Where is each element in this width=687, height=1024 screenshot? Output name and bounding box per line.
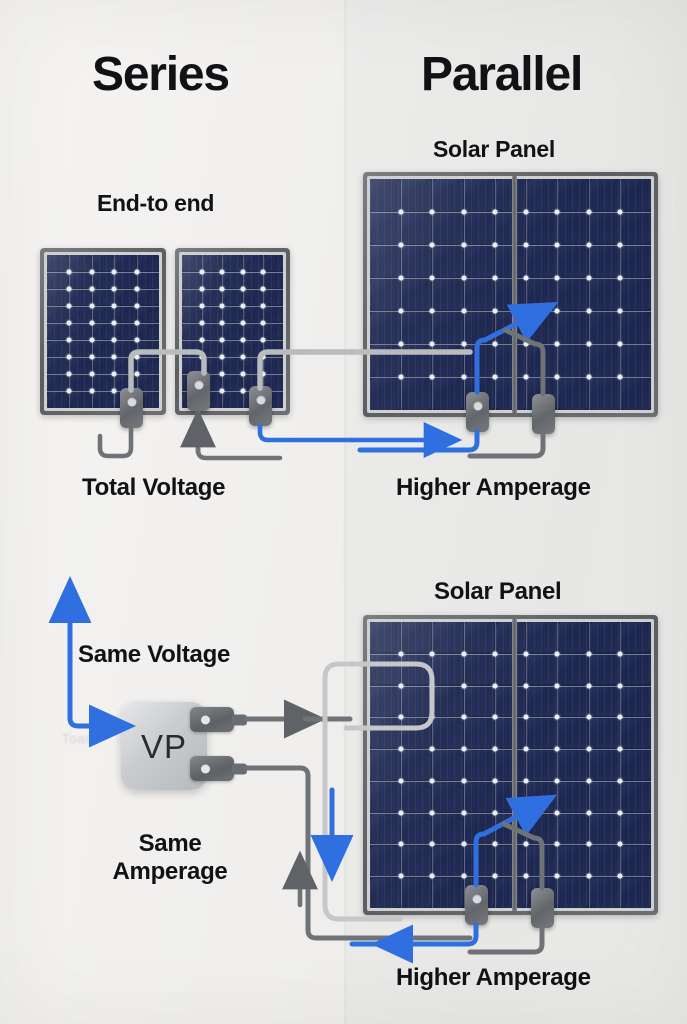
cell-node bbox=[67, 320, 72, 325]
solar-cell bbox=[203, 307, 222, 323]
cell-node bbox=[461, 309, 466, 314]
solar-cell bbox=[527, 654, 557, 684]
solar-cell bbox=[370, 782, 400, 812]
panel-label-top-right: Solar Panel bbox=[433, 136, 555, 163]
cell-node bbox=[399, 842, 404, 847]
solar-cell bbox=[182, 341, 201, 357]
cell-node bbox=[461, 874, 466, 879]
solar-cell bbox=[370, 378, 400, 410]
solar-cell bbox=[590, 750, 620, 780]
solar-cell bbox=[590, 718, 620, 748]
cell-node bbox=[220, 320, 225, 325]
vp-terminal-top bbox=[190, 707, 234, 732]
cell-node bbox=[260, 304, 265, 309]
cell-node bbox=[524, 375, 529, 380]
cell-node bbox=[112, 338, 117, 343]
solar-cell bbox=[527, 179, 557, 211]
solar-cell bbox=[401, 212, 431, 244]
solar-cell bbox=[621, 279, 651, 311]
solar-cell bbox=[223, 392, 242, 408]
cell-node bbox=[399, 715, 404, 720]
cell-node bbox=[67, 304, 72, 309]
solar-cell bbox=[182, 289, 201, 305]
solar-cell bbox=[223, 289, 242, 305]
cell-node bbox=[492, 874, 497, 879]
solar-cell bbox=[401, 782, 431, 812]
solar-cell bbox=[464, 345, 494, 377]
cell-node bbox=[524, 309, 529, 314]
solar-cell bbox=[401, 718, 431, 748]
busbar-horizontal bbox=[182, 340, 283, 341]
cell-node bbox=[134, 286, 139, 291]
title-series: Series bbox=[92, 47, 229, 102]
busbar-horizontal bbox=[370, 876, 651, 877]
solar-cell bbox=[527, 622, 557, 652]
busbar-vertical bbox=[589, 622, 590, 908]
cell-node bbox=[220, 355, 225, 360]
busbar-horizontal bbox=[47, 323, 159, 324]
cell-node bbox=[430, 375, 435, 380]
solar-cell bbox=[433, 179, 463, 211]
solar-cell bbox=[621, 686, 651, 716]
cell-node bbox=[399, 747, 404, 752]
solar-cell bbox=[464, 212, 494, 244]
solar-cell bbox=[590, 245, 620, 277]
cell-node bbox=[524, 842, 529, 847]
cell-node bbox=[399, 309, 404, 314]
solar-cell bbox=[464, 718, 494, 748]
solar-cell bbox=[401, 814, 431, 844]
solar-cell bbox=[496, 279, 526, 311]
cell-node bbox=[555, 276, 560, 281]
cell-node bbox=[399, 210, 404, 215]
busbar-horizontal bbox=[47, 289, 159, 290]
solar-cell bbox=[401, 750, 431, 780]
solar-cell bbox=[590, 878, 620, 908]
cell-node bbox=[492, 810, 497, 815]
cell-node bbox=[89, 372, 94, 377]
solar-cell bbox=[590, 686, 620, 716]
solar-cell bbox=[464, 782, 494, 812]
solar-cell bbox=[527, 212, 557, 244]
solar-cell bbox=[558, 846, 588, 876]
solar-cell bbox=[47, 289, 68, 305]
cell-node bbox=[492, 651, 497, 656]
solar-cell bbox=[433, 378, 463, 410]
cell-node bbox=[524, 210, 529, 215]
cell-node bbox=[586, 778, 591, 783]
solar-cell bbox=[401, 846, 431, 876]
solar-cell bbox=[527, 279, 557, 311]
solar-cell bbox=[244, 324, 263, 340]
solar-cell bbox=[244, 358, 263, 374]
solar-cell bbox=[47, 307, 68, 323]
solar-cell bbox=[496, 378, 526, 410]
cell-node bbox=[430, 778, 435, 783]
junction-box-p2 bbox=[532, 394, 555, 434]
solar-cell bbox=[370, 312, 400, 344]
solar-cell bbox=[558, 312, 588, 344]
busbar-horizontal bbox=[182, 323, 283, 324]
cell-node bbox=[586, 309, 591, 314]
solar-cell bbox=[92, 255, 113, 271]
busbar-horizontal bbox=[370, 278, 651, 279]
busbar-vertical bbox=[69, 255, 70, 408]
solar-cell bbox=[558, 179, 588, 211]
cell-node bbox=[430, 715, 435, 720]
cell-node bbox=[617, 683, 622, 688]
cell-node bbox=[461, 375, 466, 380]
busbar-horizontal bbox=[370, 686, 651, 687]
cell-node bbox=[586, 342, 591, 347]
solar-cell bbox=[264, 324, 283, 340]
solar-cell bbox=[433, 750, 463, 780]
solar-cell bbox=[590, 179, 620, 211]
solar-cell bbox=[203, 255, 222, 271]
busbar-vertical bbox=[526, 622, 527, 908]
solar-cell bbox=[621, 245, 651, 277]
solar-cell bbox=[464, 654, 494, 684]
cell-node bbox=[586, 747, 591, 752]
solar-cell bbox=[370, 279, 400, 311]
cell-node bbox=[524, 651, 529, 656]
solar-cell bbox=[370, 718, 400, 748]
cell-node bbox=[524, 342, 529, 347]
solar-cell bbox=[464, 846, 494, 876]
solar-cell bbox=[264, 341, 283, 357]
cell-node bbox=[220, 372, 225, 377]
solar-cell bbox=[182, 307, 201, 323]
cell-node bbox=[617, 715, 622, 720]
junction-box-s1 bbox=[120, 388, 143, 428]
cell-node bbox=[461, 842, 466, 847]
solar-cell bbox=[621, 878, 651, 908]
cell-node bbox=[586, 683, 591, 688]
cell-node bbox=[67, 355, 72, 360]
cell-node bbox=[617, 276, 622, 281]
cell-node bbox=[200, 355, 205, 360]
solar-cell bbox=[115, 324, 136, 340]
solar-cell bbox=[401, 654, 431, 684]
solar-cell bbox=[115, 272, 136, 288]
solar-cell bbox=[370, 750, 400, 780]
cell-node bbox=[492, 715, 497, 720]
solar-cell bbox=[401, 622, 431, 652]
cell-node bbox=[461, 651, 466, 656]
solar-cell bbox=[47, 272, 68, 288]
solar-cell bbox=[621, 345, 651, 377]
cell-node bbox=[134, 320, 139, 325]
solar-cell bbox=[433, 686, 463, 716]
cell-node bbox=[524, 243, 529, 248]
cell-node bbox=[617, 651, 622, 656]
solar-cell bbox=[433, 345, 463, 377]
solar-cell bbox=[182, 272, 201, 288]
cell-node bbox=[399, 375, 404, 380]
cell-node bbox=[492, 210, 497, 215]
solar-cell bbox=[621, 782, 651, 812]
cell-node bbox=[461, 210, 466, 215]
cell-node bbox=[461, 747, 466, 752]
solar-cell bbox=[401, 245, 431, 277]
cell-node bbox=[586, 210, 591, 215]
solar-cell bbox=[496, 782, 526, 812]
cell-node bbox=[430, 842, 435, 847]
solar-cell bbox=[496, 654, 526, 684]
solar-cell bbox=[464, 245, 494, 277]
cell-node bbox=[89, 355, 94, 360]
cell-node bbox=[430, 810, 435, 815]
junction-box-s3 bbox=[249, 386, 272, 426]
solar-cell bbox=[433, 212, 463, 244]
cell-node bbox=[492, 683, 497, 688]
solar-cell bbox=[558, 279, 588, 311]
solar-cell bbox=[244, 289, 263, 305]
solar-cell bbox=[464, 622, 494, 652]
solar-cell bbox=[203, 289, 222, 305]
solar-cell bbox=[590, 846, 620, 876]
solar-cell bbox=[244, 255, 263, 271]
cell-node bbox=[492, 842, 497, 847]
vp-terminal-bottom bbox=[190, 756, 234, 781]
cell-node bbox=[555, 842, 560, 847]
solar-cell bbox=[433, 846, 463, 876]
solar-cell bbox=[264, 255, 283, 271]
solar-cell bbox=[47, 375, 68, 391]
cell-node bbox=[555, 342, 560, 347]
result-higher-amperage-top: Higher Amperage bbox=[396, 474, 591, 502]
solar-cell bbox=[590, 782, 620, 812]
parallel-panel-bottom-divider bbox=[512, 619, 517, 911]
cell-node bbox=[220, 388, 225, 393]
cell-node bbox=[524, 683, 529, 688]
solar-cell bbox=[47, 324, 68, 340]
cell-node bbox=[399, 810, 404, 815]
cell-node bbox=[555, 874, 560, 879]
solar-cell bbox=[590, 654, 620, 684]
cell-node bbox=[617, 243, 622, 248]
solar-cell bbox=[527, 312, 557, 344]
cell-node bbox=[555, 651, 560, 656]
busbar-horizontal bbox=[182, 289, 283, 290]
busbar-horizontal bbox=[370, 813, 651, 814]
solar-cell bbox=[47, 358, 68, 374]
solar-cell bbox=[433, 279, 463, 311]
cell-node bbox=[240, 355, 245, 360]
solar-cell bbox=[70, 358, 91, 374]
solar-cell bbox=[138, 324, 159, 340]
solar-cell bbox=[47, 341, 68, 357]
cell-node bbox=[260, 338, 265, 343]
cell-node bbox=[200, 304, 205, 309]
cell-node bbox=[555, 683, 560, 688]
busbar-vertical bbox=[114, 255, 115, 408]
solar-cell bbox=[401, 378, 431, 410]
cell-node bbox=[555, 747, 560, 752]
cell-node bbox=[492, 375, 497, 380]
solar-cell bbox=[203, 324, 222, 340]
cell-node bbox=[240, 286, 245, 291]
cell-node bbox=[461, 810, 466, 815]
solar-cell bbox=[370, 846, 400, 876]
result-total-voltage: Total Voltage bbox=[82, 474, 225, 502]
solar-cell bbox=[496, 718, 526, 748]
cell-node bbox=[555, 210, 560, 215]
solar-cell bbox=[138, 358, 159, 374]
solar-cell bbox=[92, 341, 113, 357]
cell-node bbox=[492, 747, 497, 752]
solar-cell bbox=[590, 345, 620, 377]
junction-box-p4 bbox=[531, 888, 554, 928]
busbar-vertical bbox=[92, 255, 93, 408]
solar-cell bbox=[370, 245, 400, 277]
cell-node bbox=[524, 276, 529, 281]
solar-cell bbox=[621, 750, 651, 780]
panel-label-bottom-right: Solar Panel bbox=[434, 578, 561, 606]
solar-cell bbox=[138, 289, 159, 305]
cell-node bbox=[112, 320, 117, 325]
caption-end-to-end: End-to end bbox=[97, 190, 214, 217]
cell-node bbox=[617, 810, 622, 815]
solar-cell bbox=[527, 345, 557, 377]
solar-cell bbox=[92, 324, 113, 340]
cell-node bbox=[430, 276, 435, 281]
solar-cell bbox=[496, 179, 526, 211]
solar-cell bbox=[223, 272, 242, 288]
cell-node bbox=[240, 304, 245, 309]
solar-cell bbox=[527, 718, 557, 748]
solar-cell bbox=[496, 212, 526, 244]
cell-node bbox=[586, 375, 591, 380]
solar-cell bbox=[223, 341, 242, 357]
junction-box-s2 bbox=[187, 371, 210, 411]
cell-node bbox=[524, 747, 529, 752]
title-parallel: Parallel bbox=[421, 47, 582, 102]
solar-cell bbox=[433, 782, 463, 812]
cell-node bbox=[430, 683, 435, 688]
cell-node bbox=[555, 309, 560, 314]
cell-node bbox=[200, 320, 205, 325]
cell-node bbox=[134, 355, 139, 360]
cell-node bbox=[430, 747, 435, 752]
cell-node bbox=[586, 715, 591, 720]
cell-node bbox=[112, 372, 117, 377]
cell-node bbox=[586, 243, 591, 248]
solar-cell bbox=[370, 345, 400, 377]
solar-cell bbox=[464, 179, 494, 211]
solar-cell bbox=[621, 212, 651, 244]
cell-node bbox=[461, 276, 466, 281]
solar-cell bbox=[527, 750, 557, 780]
cell-node bbox=[461, 342, 466, 347]
cell-node bbox=[617, 874, 622, 879]
solar-cell bbox=[621, 179, 651, 211]
cell-node bbox=[430, 651, 435, 656]
solar-cell bbox=[70, 375, 91, 391]
solar-cell bbox=[558, 654, 588, 684]
cell-node bbox=[200, 286, 205, 291]
solar-cell bbox=[223, 255, 242, 271]
busbar-horizontal bbox=[370, 749, 651, 750]
solar-cell bbox=[244, 272, 263, 288]
parallel-panel-top bbox=[363, 172, 658, 417]
cell-node bbox=[89, 269, 94, 274]
busbar-vertical bbox=[432, 622, 433, 908]
solar-cell bbox=[527, 846, 557, 876]
result-higher-amperage-bottom: Higher Amperage bbox=[396, 964, 591, 992]
cell-node bbox=[200, 269, 205, 274]
busbar-horizontal bbox=[47, 374, 159, 375]
cell-node bbox=[134, 338, 139, 343]
solar-cell bbox=[621, 814, 651, 844]
solar-cell bbox=[621, 622, 651, 652]
cell-node bbox=[134, 304, 139, 309]
solar-cell bbox=[464, 312, 494, 344]
solar-cell bbox=[558, 622, 588, 652]
cell-node bbox=[220, 304, 225, 309]
busbar-horizontal bbox=[47, 357, 159, 358]
solar-cell bbox=[496, 686, 526, 716]
busbar-vertical bbox=[620, 622, 621, 908]
solar-cell bbox=[370, 179, 400, 211]
solar-cell bbox=[92, 375, 113, 391]
busbar-vertical bbox=[401, 622, 402, 908]
junction-box-p3 bbox=[465, 885, 488, 925]
cell-node bbox=[399, 874, 404, 879]
solar-cell bbox=[264, 272, 283, 288]
cell-node bbox=[586, 276, 591, 281]
solar-cell bbox=[70, 341, 91, 357]
cell-node bbox=[260, 286, 265, 291]
cell-node bbox=[555, 778, 560, 783]
cell-node bbox=[112, 355, 117, 360]
cell-node bbox=[112, 304, 117, 309]
cell-node bbox=[399, 651, 404, 656]
cell-node bbox=[430, 309, 435, 314]
solar-cell bbox=[433, 622, 463, 652]
cell-node bbox=[399, 243, 404, 248]
solar-cell bbox=[433, 718, 463, 748]
solar-cell bbox=[92, 272, 113, 288]
busbar-vertical bbox=[495, 622, 496, 908]
cell-node bbox=[67, 269, 72, 274]
solar-cell bbox=[433, 654, 463, 684]
cell-node bbox=[430, 342, 435, 347]
solar-cell bbox=[621, 312, 651, 344]
solar-cell bbox=[70, 324, 91, 340]
busbar-horizontal bbox=[370, 844, 651, 845]
solar-cell bbox=[92, 358, 113, 374]
solar-cell bbox=[264, 289, 283, 305]
cell-node bbox=[240, 388, 245, 393]
solar-cell bbox=[370, 878, 400, 908]
solar-cell bbox=[115, 289, 136, 305]
cell-node bbox=[617, 309, 622, 314]
cell-node bbox=[524, 810, 529, 815]
parallel-panel-bottom bbox=[363, 615, 658, 915]
solar-cell bbox=[433, 312, 463, 344]
cell-node bbox=[430, 210, 435, 215]
solar-cell bbox=[433, 245, 463, 277]
solar-cell bbox=[496, 846, 526, 876]
solar-cell bbox=[401, 179, 431, 211]
cell-node bbox=[399, 683, 404, 688]
solar-cell bbox=[138, 272, 159, 288]
solar-cell bbox=[558, 378, 588, 410]
solar-cell bbox=[590, 212, 620, 244]
cell-node bbox=[67, 372, 72, 377]
cell-node bbox=[220, 269, 225, 274]
